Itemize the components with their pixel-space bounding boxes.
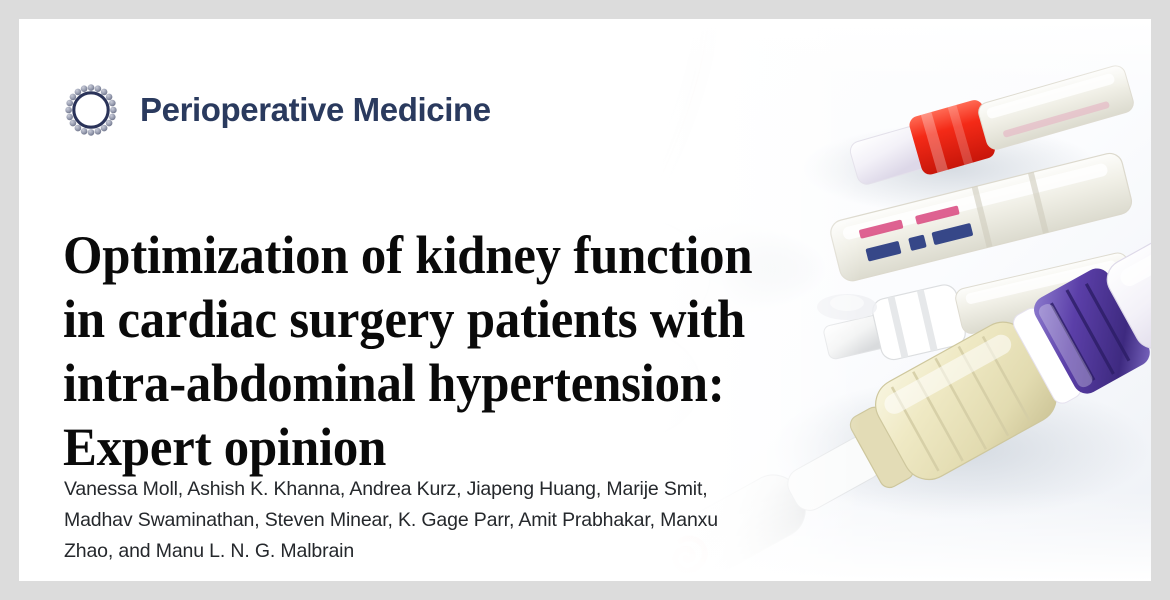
- article-authors: Vanessa Moll, Ashish K. Khanna, Andrea K…: [64, 474, 754, 567]
- article-title-line: intra-abdominal hypertension:: [63, 351, 759, 415]
- article-title-line: Optimization of kidney function: [63, 223, 759, 287]
- journal-title: Perioperative Medicine: [140, 91, 491, 129]
- author-line: Vanessa Moll, Ashish K. Khanna, Andrea K…: [64, 474, 754, 505]
- article-card: Perioperative Medicine Optimization of k…: [19, 19, 1151, 581]
- journal-brand: Perioperative Medicine: [64, 80, 491, 140]
- beaded-ring-logo-icon: [64, 83, 118, 137]
- author-line: Zhao, and Manu L. N. G. Malbrain: [64, 536, 754, 567]
- article-title-line: in cardiac surgery patients with: [63, 287, 759, 351]
- author-line: Madhav Swaminathan, Steven Minear, K. Ga…: [64, 505, 754, 536]
- article-title-line: Expert opinion: [63, 415, 759, 479]
- article-title: Optimization of kidney function in cardi…: [63, 223, 759, 479]
